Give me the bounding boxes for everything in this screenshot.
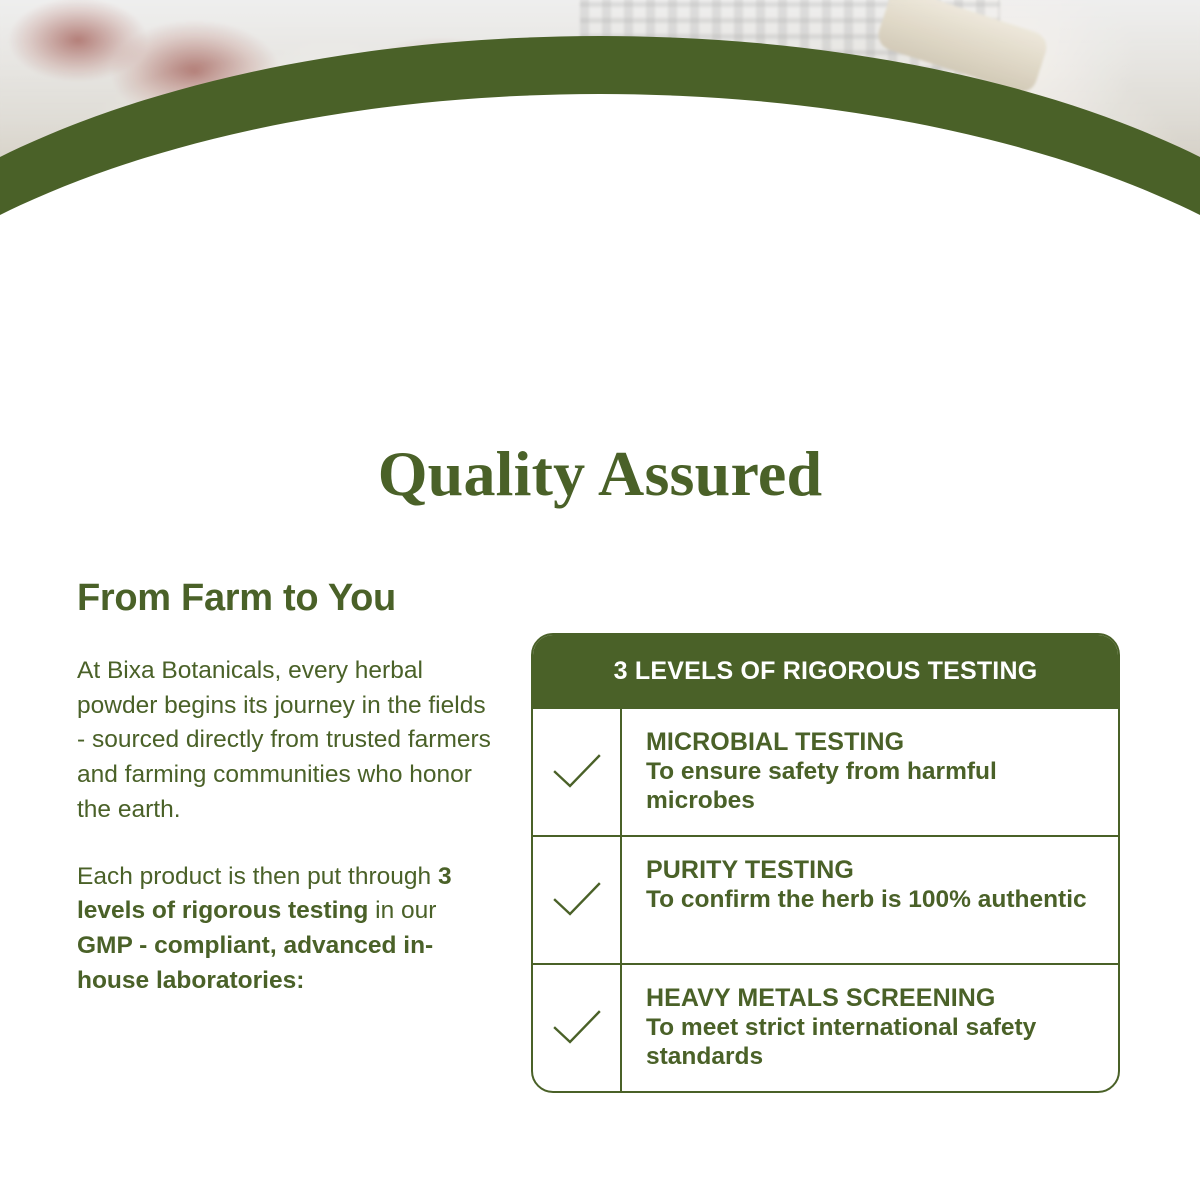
quality-assured-infographic: Quality Assured From Farm to You At Bixa…: [0, 0, 1200, 1200]
table-row: PURITY TESTING To confirm the herb is 10…: [533, 835, 1118, 963]
testing-levels-card: 3 LEVELS OF RIGOROUS TESTING MICROBIAL T…: [531, 633, 1120, 1093]
check-icon: [551, 1008, 603, 1048]
card-header: 3 LEVELS OF RIGOROUS TESTING: [533, 635, 1118, 707]
check-icon: [551, 880, 603, 920]
row-title: PURITY TESTING: [646, 856, 1102, 884]
testing-paragraph-bold2: GMP - compliant, advanced in-house labor…: [77, 932, 433, 994]
row-title: MICROBIAL TESTING: [646, 728, 1102, 756]
check-cell: [533, 837, 622, 963]
intro-paragraph: At Bixa Botanicals, every herbal powder …: [77, 654, 497, 828]
check-icon: [551, 752, 603, 792]
row-content: HEAVY METALS SCREENING To meet strict in…: [622, 965, 1118, 1091]
hero-photo: [0, 0, 1200, 430]
row-description: To ensure safety from harmful microbes: [646, 758, 1102, 816]
row-description: To confirm the herb is 100% authentic: [646, 886, 1102, 915]
row-content: PURITY TESTING To confirm the herb is 10…: [622, 837, 1118, 963]
photo-haze-overlay: [0, 0, 1200, 430]
testing-paragraph: Each product is then put through 3 level…: [77, 860, 497, 999]
table-row: MICROBIAL TESTING To ensure safety from …: [533, 707, 1118, 835]
row-description: To meet strict international safety stan…: [646, 1014, 1102, 1072]
testing-paragraph-part1: Each product is then put through: [77, 863, 438, 890]
row-title: HEAVY METALS SCREENING: [646, 984, 1102, 1012]
left-column: From Farm to You At Bixa Botanicals, eve…: [77, 578, 497, 999]
row-content: MICROBIAL TESTING To ensure safety from …: [622, 709, 1118, 835]
testing-paragraph-part2: in our: [368, 897, 436, 924]
check-cell: [533, 709, 622, 835]
section-subheading: From Farm to You: [77, 578, 497, 620]
table-row: HEAVY METALS SCREENING To meet strict in…: [533, 963, 1118, 1091]
check-cell: [533, 965, 622, 1091]
page-title: Quality Assured: [0, 437, 1200, 511]
